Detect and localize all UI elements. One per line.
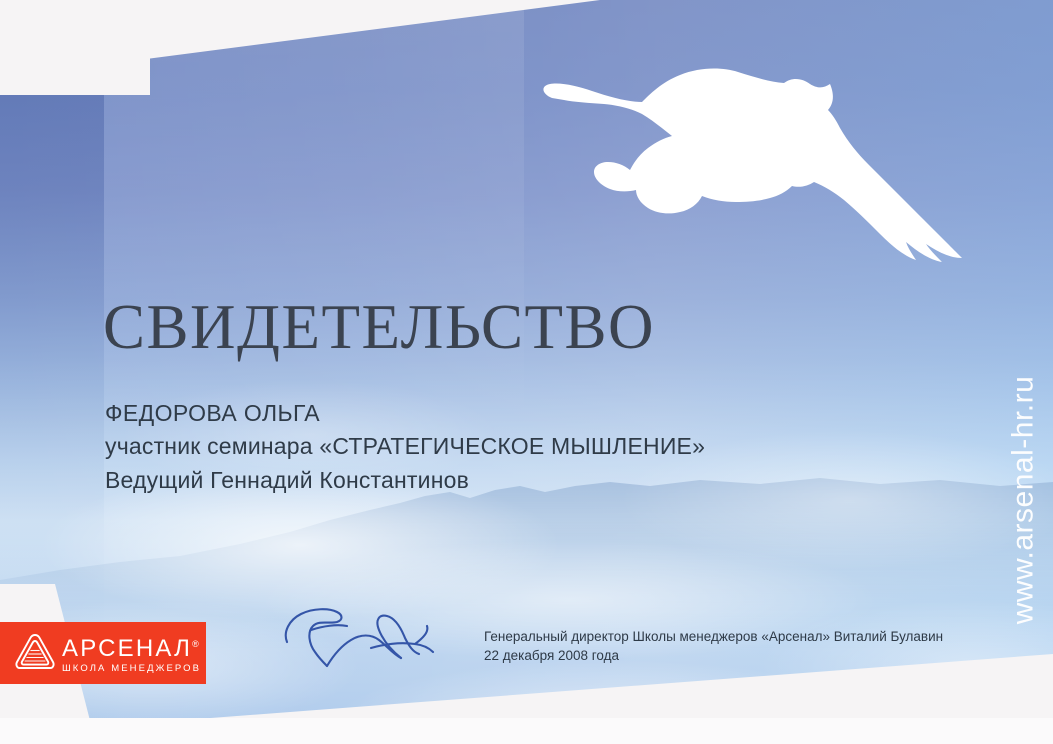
- recipient-name: ФЕДОРОВА ОЛЬГА: [105, 398, 705, 429]
- recipient-block: ФЕДОРОВА ОЛЬГА участник семинара «СТРАТЕ…: [105, 398, 705, 497]
- pyramid-triangle-icon: [12, 631, 58, 675]
- soaring-bird-icon: [530, 58, 1000, 298]
- footer-date: 22 декабря 2008 года: [484, 646, 943, 665]
- website-url[interactable]: www.arsenal-hr.ru: [995, 300, 1051, 700]
- arsenal-brand-text: АРСЕНАЛ: [62, 635, 192, 662]
- footer-block: Генеральный директор Школы менеджеров «А…: [484, 627, 943, 665]
- recipient-trainer-line: Ведущий Геннадий Константинов: [105, 463, 705, 497]
- arsenal-brand-name: АРСЕНАЛ®: [62, 632, 201, 661]
- title-tint-panel: [104, 0, 524, 430]
- registered-mark-icon: ®: [192, 639, 199, 649]
- website-url-text: www.arsenal-hr.ru: [1006, 376, 1040, 625]
- footer-signatory: Генеральный директор Школы менеджеров «А…: [484, 627, 943, 646]
- arsenal-logo-words: АРСЕНАЛ® ШКОЛА МЕНЕДЖЕРОВ: [62, 632, 201, 675]
- recipient-seminar-line: участник семинара «СТРАТЕГИЧЕСКОЕ МЫШЛЕН…: [105, 429, 705, 463]
- handwritten-signature-icon: [275, 600, 445, 675]
- certificate-page: СВИДЕТЕЛЬСТВО ФЕДОРОВА ОЛЬГА участник се…: [0, 0, 1053, 744]
- arsenal-logo[interactable]: АРСЕНАЛ® ШКОЛА МЕНЕДЖЕРОВ: [0, 622, 206, 684]
- certificate-title: СВИДЕТЕЛЬСТВО: [103, 296, 655, 359]
- arsenal-tagline: ШКОЛА МЕНЕДЖЕРОВ: [62, 662, 201, 675]
- scan-edge-bottom-strip: [0, 718, 1053, 744]
